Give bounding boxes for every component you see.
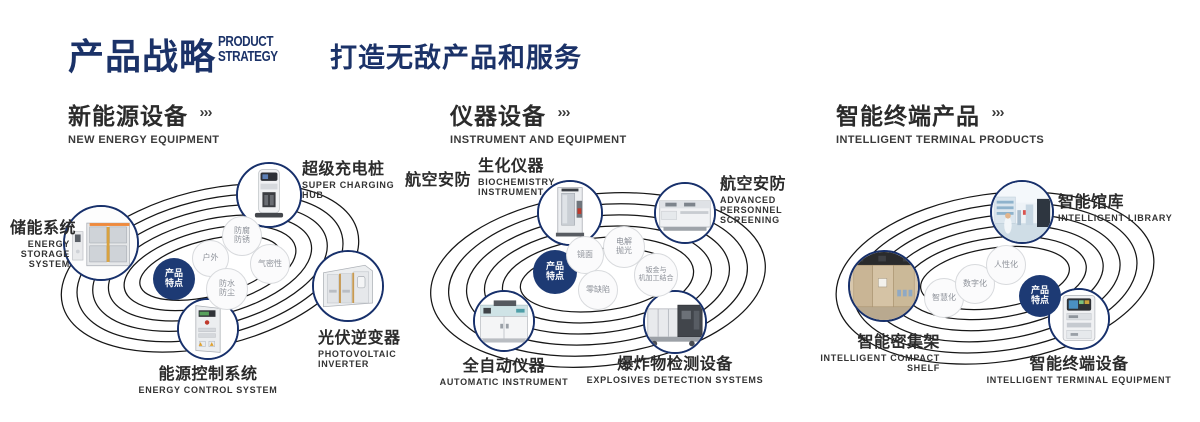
diagram-intelligent-terminal: 智能馆库 INTELLIGENT LIBRARY 智能密集架 [800, 150, 1200, 400]
section-title-en: INSTRUMENT AND EQUIPMENT [450, 134, 627, 146]
photovoltaic-inverter-photo [314, 252, 382, 320]
feature-bubble-waterproof: 防水 防尘 [206, 268, 248, 310]
intelligent-library-photo [992, 182, 1052, 242]
automatic-instrument-photo [475, 292, 533, 350]
label-advanced-personnel-screening: 航空安防 ADVANCED PERSONNEL SCREENING [720, 170, 800, 225]
chevron-right-triple-icon: ››› [557, 104, 569, 121]
label-intelligent-compact-shelf: 智能密集架 INTELLIGENT COMPACT SHELF [790, 328, 940, 373]
section-title-cn: 仪器设备 [450, 97, 546, 131]
feature-bubble-zero-defect: 零缺陷 [578, 270, 618, 310]
infographic-canvas: 产品战略 PRODUCT STRATEGY 打造无敌产品和服务 新能源设备 ››… [0, 0, 1200, 422]
label-intelligent-library: 智能馆库 INTELLIGENT LIBRARY [1058, 188, 1172, 223]
page-title-cn: 产品战略 [68, 28, 216, 80]
advanced-personnel-screening-photo [656, 184, 714, 242]
feature-bubble-humanized: 人性化 [986, 245, 1026, 285]
explosives-detection-systems-photo [645, 292, 705, 352]
label-energy-storage-system: 储能系统 ENERGY STORAGE SYSTEM [10, 214, 70, 269]
section-title-en: INTELLIGENT TERMINAL PRODUCTS [836, 134, 1044, 146]
label-photovoltaic-inverter: 光伏逆变器 PHOTOVOLTAIC INVERTER [318, 324, 410, 369]
chevron-right-triple-icon: ››› [199, 104, 211, 121]
label-explosives-detection-systems: 爆炸物检测设备 EXPLOSIVES DETECTION SYSTEMS [575, 350, 775, 385]
page-title-en: PRODUCT STRATEGY [218, 34, 278, 64]
node-photovoltaic-inverter[interactable] [312, 250, 384, 322]
feature-bubble-airtight: 气密性 [250, 244, 290, 284]
diagram-new-energy: 储能系统 ENERGY STORAGE SYSTEM 超级充电桩 SUPER C… [10, 150, 410, 400]
section-title-cn: 新能源设备 [68, 97, 188, 131]
page-subtitle: 打造无敌产品和服务 [330, 36, 582, 75]
section-title-new-energy: 新能源设备 ››› NEW ENERGY EQUIPMENT [68, 97, 219, 146]
node-energy-storage-system[interactable] [63, 205, 139, 281]
core-badge: 产品 特点 [1019, 275, 1061, 317]
label-super-charging-hub: 超级充电桩 SUPER CHARGING HUB [302, 155, 410, 200]
node-explosives-detection-systems[interactable] [643, 290, 707, 354]
label-aviation-security-left: 航空安防 [405, 166, 471, 190]
label-biochemistry-instrument: 生化仪器 BIOCHEMISTRY INSTRUMENT [478, 152, 555, 197]
feature-bubble-sheetmetal-machining: 钣金与 机加工结合 [634, 253, 678, 297]
node-intelligent-library[interactable] [990, 180, 1054, 244]
chevron-right-triple-icon: ››› [991, 104, 1003, 121]
node-automatic-instrument[interactable] [473, 290, 535, 352]
label-energy-control-system: 能源控制系统 ENERGY CONTROL SYSTEM [128, 360, 288, 395]
section-title-intelligent-terminal: 智能终端产品 ››› INTELLIGENT TERMINAL PRODUCTS [836, 97, 1044, 146]
section-title-en: NEW ENERGY EQUIPMENT [68, 134, 219, 146]
section-title-cn: 智能终端产品 [836, 97, 980, 131]
node-advanced-personnel-screening[interactable] [654, 182, 716, 244]
feature-bubble-mirror: 镜面 [566, 236, 604, 274]
core-badge: 产品 特点 [153, 258, 195, 300]
intelligent-compact-shelf-photo [850, 252, 918, 320]
diagram-instrument: 航空安防 生化仪器 BIOCHEMISTRY INSTRUMENT 航空安防 A… [400, 150, 800, 400]
label-automatic-instrument: 全自动仪器 AUTOMATIC INSTRUMENT [424, 352, 584, 387]
label-intelligent-terminal-equipment: 智能终端设备 INTELLIGENT TERMINAL EQUIPMENT [979, 350, 1179, 385]
node-intelligent-compact-shelf[interactable] [848, 250, 920, 322]
section-title-instrument: 仪器设备 ››› INSTRUMENT AND EQUIPMENT [450, 97, 627, 146]
